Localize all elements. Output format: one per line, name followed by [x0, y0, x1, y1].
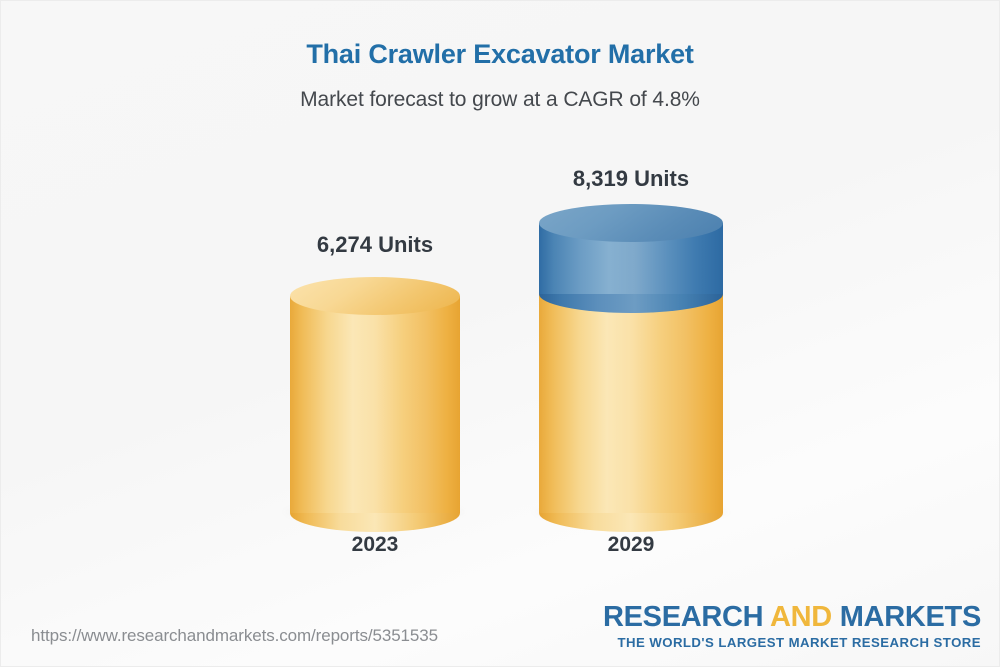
research-and-markets-logo[interactable]: RESEARCH AND MARKETS THE WORLD'S LARGEST… — [603, 603, 981, 650]
cylinder-top-cap-2023 — [290, 277, 460, 315]
logo-word-research: RESEARCH — [603, 601, 763, 633]
chart-canvas: Thai Crawler Excavator Market Market for… — [0, 0, 1000, 667]
plot-area: 6,274 Units 2023 8,319 Units — [1, 1, 1000, 667]
category-label-2029: 2029 — [511, 533, 751, 557]
value-label-2023: 6,274 Units — [255, 232, 495, 258]
cylinder-body-2023 — [290, 296, 460, 513]
value-label-2029: 8,319 Units — [511, 166, 751, 192]
category-label-2023: 2023 — [255, 533, 495, 557]
logo-tagline: THE WORLD'S LARGEST MARKET RESEARCH STOR… — [603, 635, 981, 650]
cylinder-top-cap-2029 — [539, 204, 723, 242]
cylinder-base-body-2029 — [539, 293, 723, 513]
logo-word-markets: MARKETS — [840, 601, 981, 633]
logo-word-and: AND — [770, 601, 832, 633]
source-url[interactable]: https://www.researchandmarkets.com/repor… — [31, 626, 438, 646]
logo-wordmark: RESEARCH AND MARKETS — [603, 603, 981, 633]
